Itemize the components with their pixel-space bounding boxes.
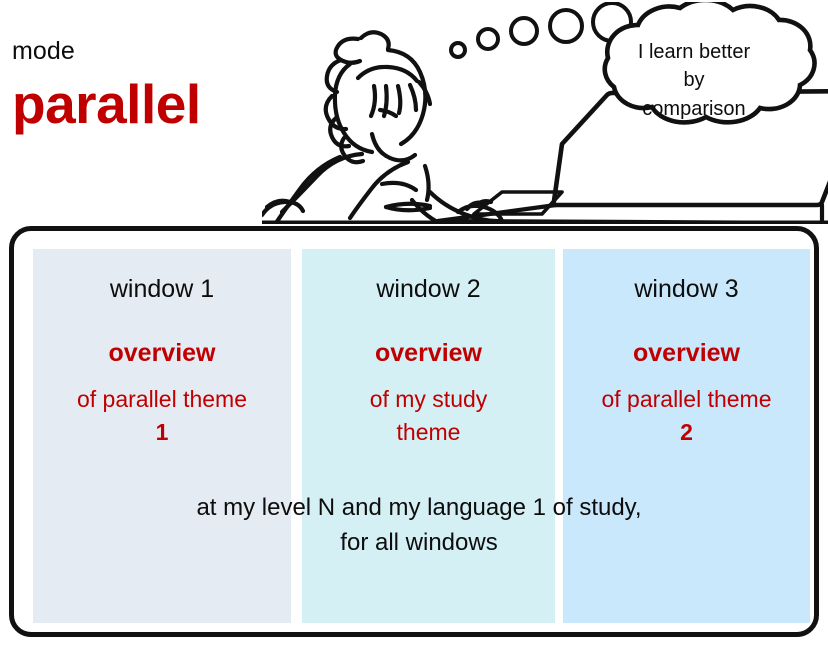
window-panel-1-content: window 1 overview of parallel theme 1 [33,249,291,450]
diagram-canvas: mode parallel [0,0,828,645]
mode-title: parallel [12,76,272,134]
window-1-theme: of parallel theme 1 [33,383,291,450]
panels-group: window 1 overview of parallel theme 1 wi… [14,231,824,642]
mode-label: mode [12,38,272,66]
illustration-person-studying [262,2,828,224]
windows-container: window 1 overview of parallel theme 1 wi… [9,226,819,637]
window-2-theme-number: theme [397,419,461,445]
window-2-label: window 2 [302,274,555,304]
window-3-label: window 3 [563,274,810,304]
window-3-theme-text: of parallel theme [601,386,771,412]
window-2-theme-text: of my study [370,386,488,412]
window-3-theme-number: 2 [680,419,693,445]
window-2-overview-label: overview [302,338,555,368]
window-panel-2[interactable]: window 2 overview of my study theme [302,249,555,623]
person-at-laptop-icon [262,2,828,224]
window-3-overview-label: overview [563,338,810,368]
window-panel-3-content: window 3 overview of parallel theme 2 [563,249,810,450]
window-1-theme-text: of parallel theme [77,386,247,412]
window-panel-1[interactable]: window 1 overview of parallel theme 1 [33,249,291,623]
window-1-theme-number: 1 [156,419,169,445]
window-1-label: window 1 [33,274,291,304]
header-block: mode parallel [12,38,272,133]
window-3-theme: of parallel theme 2 [563,383,810,450]
window-2-theme: of my study theme [302,383,555,450]
window-panel-2-content: window 2 overview of my study theme [302,249,555,450]
window-1-overview-label: overview [33,338,291,368]
window-panel-3[interactable]: window 3 overview of parallel theme 2 [563,249,810,623]
